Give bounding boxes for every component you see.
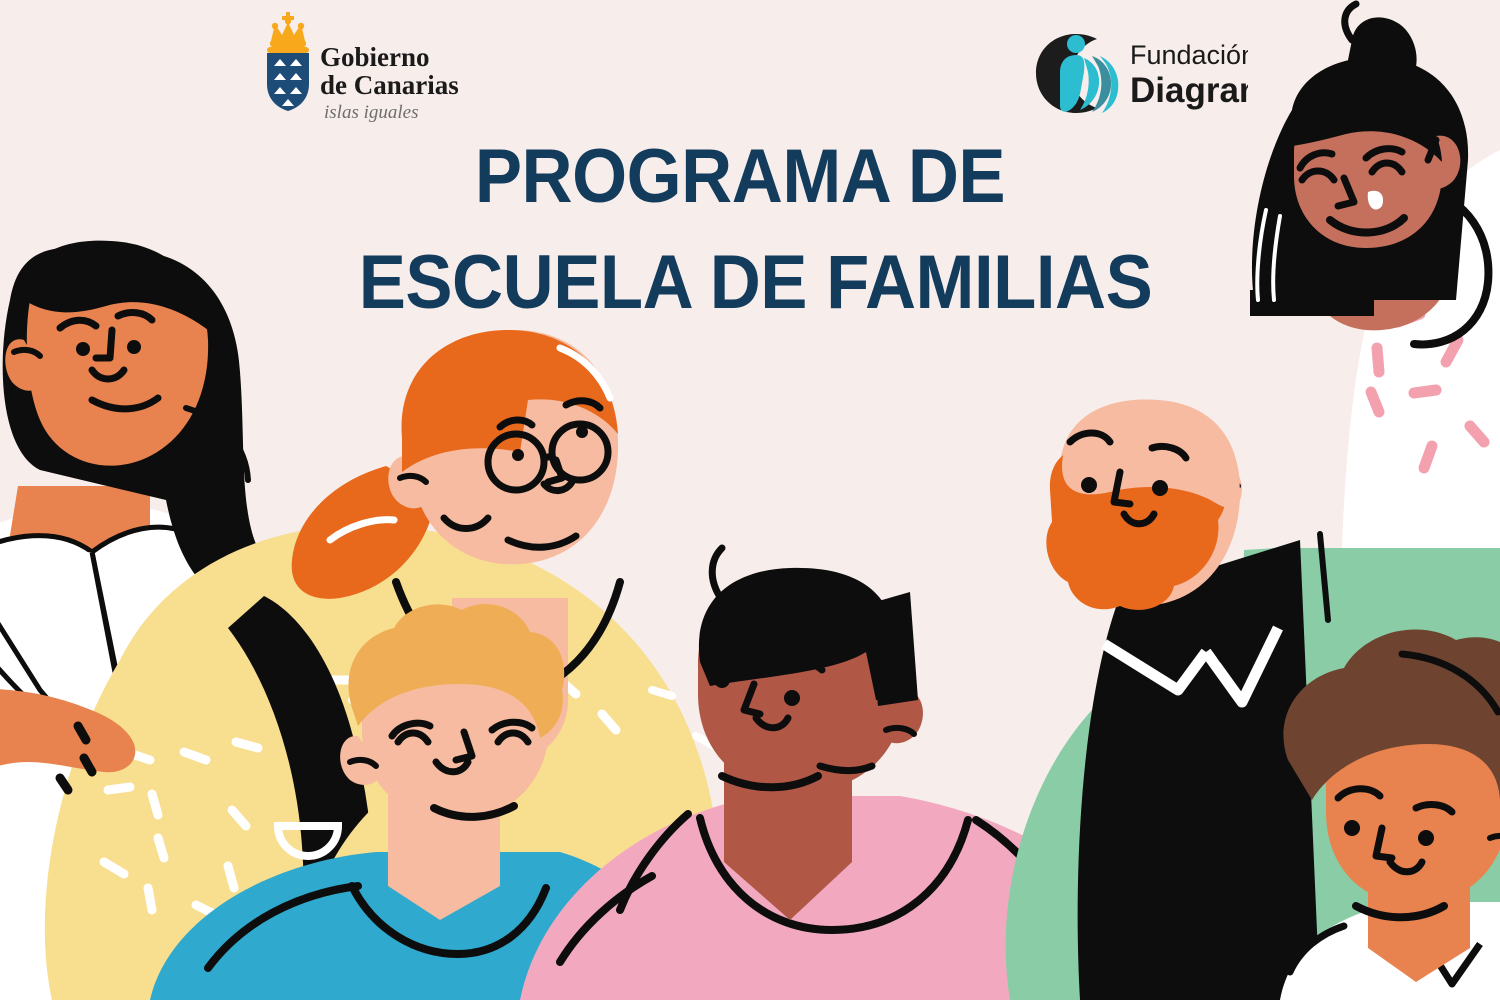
canarias-wordmark-line2: de Canarias [320,70,459,100]
poster-canvas: Gobierno de Canarias islas iguales Funda… [0,0,1500,1000]
canarias-wordmark-line1: Gobierno [320,42,430,72]
gobierno-de-canarias-logo[interactable]: Gobierno de Canarias islas iguales [258,8,488,128]
canarias-tagline: islas iguales [324,102,418,123]
diagrama-wordmark-line2: Diagrama [1130,71,1248,110]
fundacion-diagrama-logo[interactable]: Fundación Diagrama [1018,28,1248,118]
diagrama-mark-icon [1036,34,1118,113]
diagrama-wordmark-line1: Fundación [1130,40,1248,70]
crown-icon [267,12,309,53]
canary-islands-shield [267,53,309,111]
illustration-artwork [0,0,1500,1000]
